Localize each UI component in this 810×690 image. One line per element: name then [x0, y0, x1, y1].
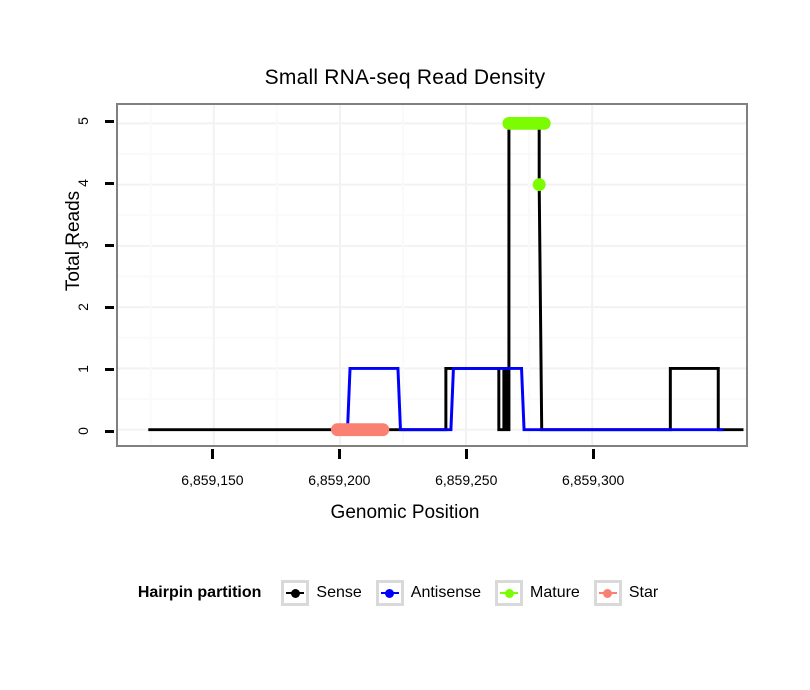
chart-title: Small RNA-seq Read Density [0, 66, 810, 90]
y-tick-mark [105, 430, 114, 433]
x-tick-mark [211, 449, 214, 459]
x-axis-label: Genomic Position [0, 502, 810, 524]
legend-label: Mature [530, 584, 580, 602]
legend: Hairpin partition SenseAntisenseMatureSt… [0, 580, 810, 606]
legend-title: Hairpin partition [138, 584, 262, 602]
y-tick-mark [105, 244, 114, 247]
legend-key-dot [505, 589, 514, 598]
grid-lines [118, 105, 746, 445]
y-tick-label: 2 [75, 292, 91, 322]
y-tick-mark [105, 306, 114, 309]
legend-key-dot [291, 589, 300, 598]
legend-entry-antisense[interactable]: Antisense [376, 580, 481, 606]
y-tick-mark [105, 120, 114, 123]
x-tick-label: 6,859,200 [279, 472, 399, 488]
x-tick-mark [592, 449, 595, 459]
plot-area [116, 103, 748, 447]
x-tick-label: 6,859,250 [406, 472, 526, 488]
y-tick-label: 0 [75, 416, 91, 446]
legend-key-dot [385, 589, 394, 598]
y-tick-mark [105, 368, 114, 371]
x-tick-label: 6,859,300 [533, 472, 653, 488]
x-tick-label: 6,859,150 [152, 472, 272, 488]
y-tick-label: 5 [75, 106, 91, 136]
y-tick-label: 4 [75, 168, 91, 198]
annotation-point-mature [533, 178, 546, 191]
legend-key-mature-icon [495, 580, 523, 606]
y-tick-label: 3 [75, 230, 91, 260]
legend-entry-star[interactable]: Star [594, 580, 658, 606]
legend-label: Sense [316, 584, 361, 602]
y-tick-label: 1 [75, 354, 91, 384]
x-tick-mark [338, 449, 341, 459]
legend-key-sense-icon [281, 580, 309, 606]
x-tick-mark [465, 449, 468, 459]
y-tick-mark [105, 182, 114, 185]
legend-key-star-icon [594, 580, 622, 606]
legend-entry-sense[interactable]: Sense [281, 580, 361, 606]
legend-label: Antisense [411, 584, 481, 602]
plot-canvas [118, 105, 746, 445]
legend-entry-mature[interactable]: Mature [495, 580, 580, 606]
legend-label: Star [629, 584, 658, 602]
legend-key-dot [603, 589, 612, 598]
legend-key-antisense-icon [376, 580, 404, 606]
chart-page: Small RNA-seq Read Density Total Reads G… [0, 0, 810, 690]
